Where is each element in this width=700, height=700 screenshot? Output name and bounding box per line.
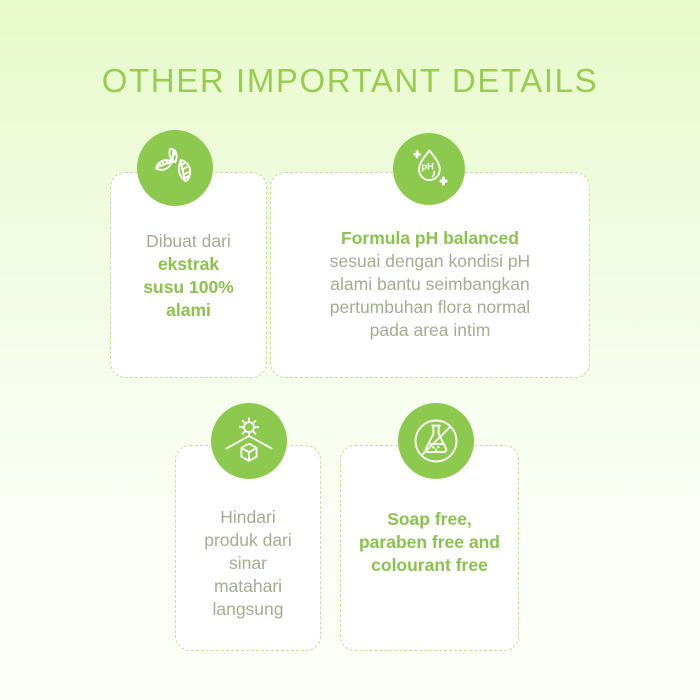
card-line: langsung bbox=[182, 598, 314, 621]
card-line: paraben free and bbox=[347, 531, 512, 554]
card-line: Hindari bbox=[182, 506, 314, 529]
card-line: Soap free, bbox=[347, 508, 512, 531]
infographic-page: OTHER IMPORTANT DETAILS Dibuat dari ekst… bbox=[0, 0, 700, 700]
page-title: OTHER IMPORTANT DETAILS bbox=[0, 62, 700, 100]
card-text-block: Dibuat dari ekstrak susu 100% alami bbox=[117, 230, 260, 322]
card-text-block: Hindari produk dari sinar matahari langs… bbox=[182, 506, 314, 621]
card-line: matahari bbox=[182, 575, 314, 598]
ph-droplet-icon: pH bbox=[393, 133, 465, 205]
no-chemicals-flask-icon bbox=[398, 403, 474, 479]
no-sunlight-storage-icon bbox=[211, 403, 287, 479]
card-line: Dibuat dari bbox=[117, 230, 260, 253]
card-line: pada area intim bbox=[277, 319, 583, 342]
card-line: ekstrak bbox=[117, 253, 260, 276]
card-text-block: Soap free, paraben free and colourant fr… bbox=[347, 508, 512, 577]
ph-label: pH bbox=[421, 160, 434, 171]
card-line: alami bantu seimbangkan bbox=[277, 273, 583, 296]
leaves-icon bbox=[137, 130, 213, 206]
card-line: sesuai dengan kondisi pH bbox=[277, 250, 583, 273]
card-line: alami bbox=[117, 299, 260, 322]
card-line: produk dari bbox=[182, 529, 314, 552]
card-text-block: Formula pH balanced sesuai dengan kondis… bbox=[277, 227, 583, 342]
card-line: sinar bbox=[182, 552, 314, 575]
card-line: pertumbuhan flora normal bbox=[277, 296, 583, 319]
card-line: Formula pH balanced bbox=[277, 227, 583, 250]
card-line: colourant free bbox=[347, 554, 512, 577]
card-line: susu 100% bbox=[117, 276, 260, 299]
